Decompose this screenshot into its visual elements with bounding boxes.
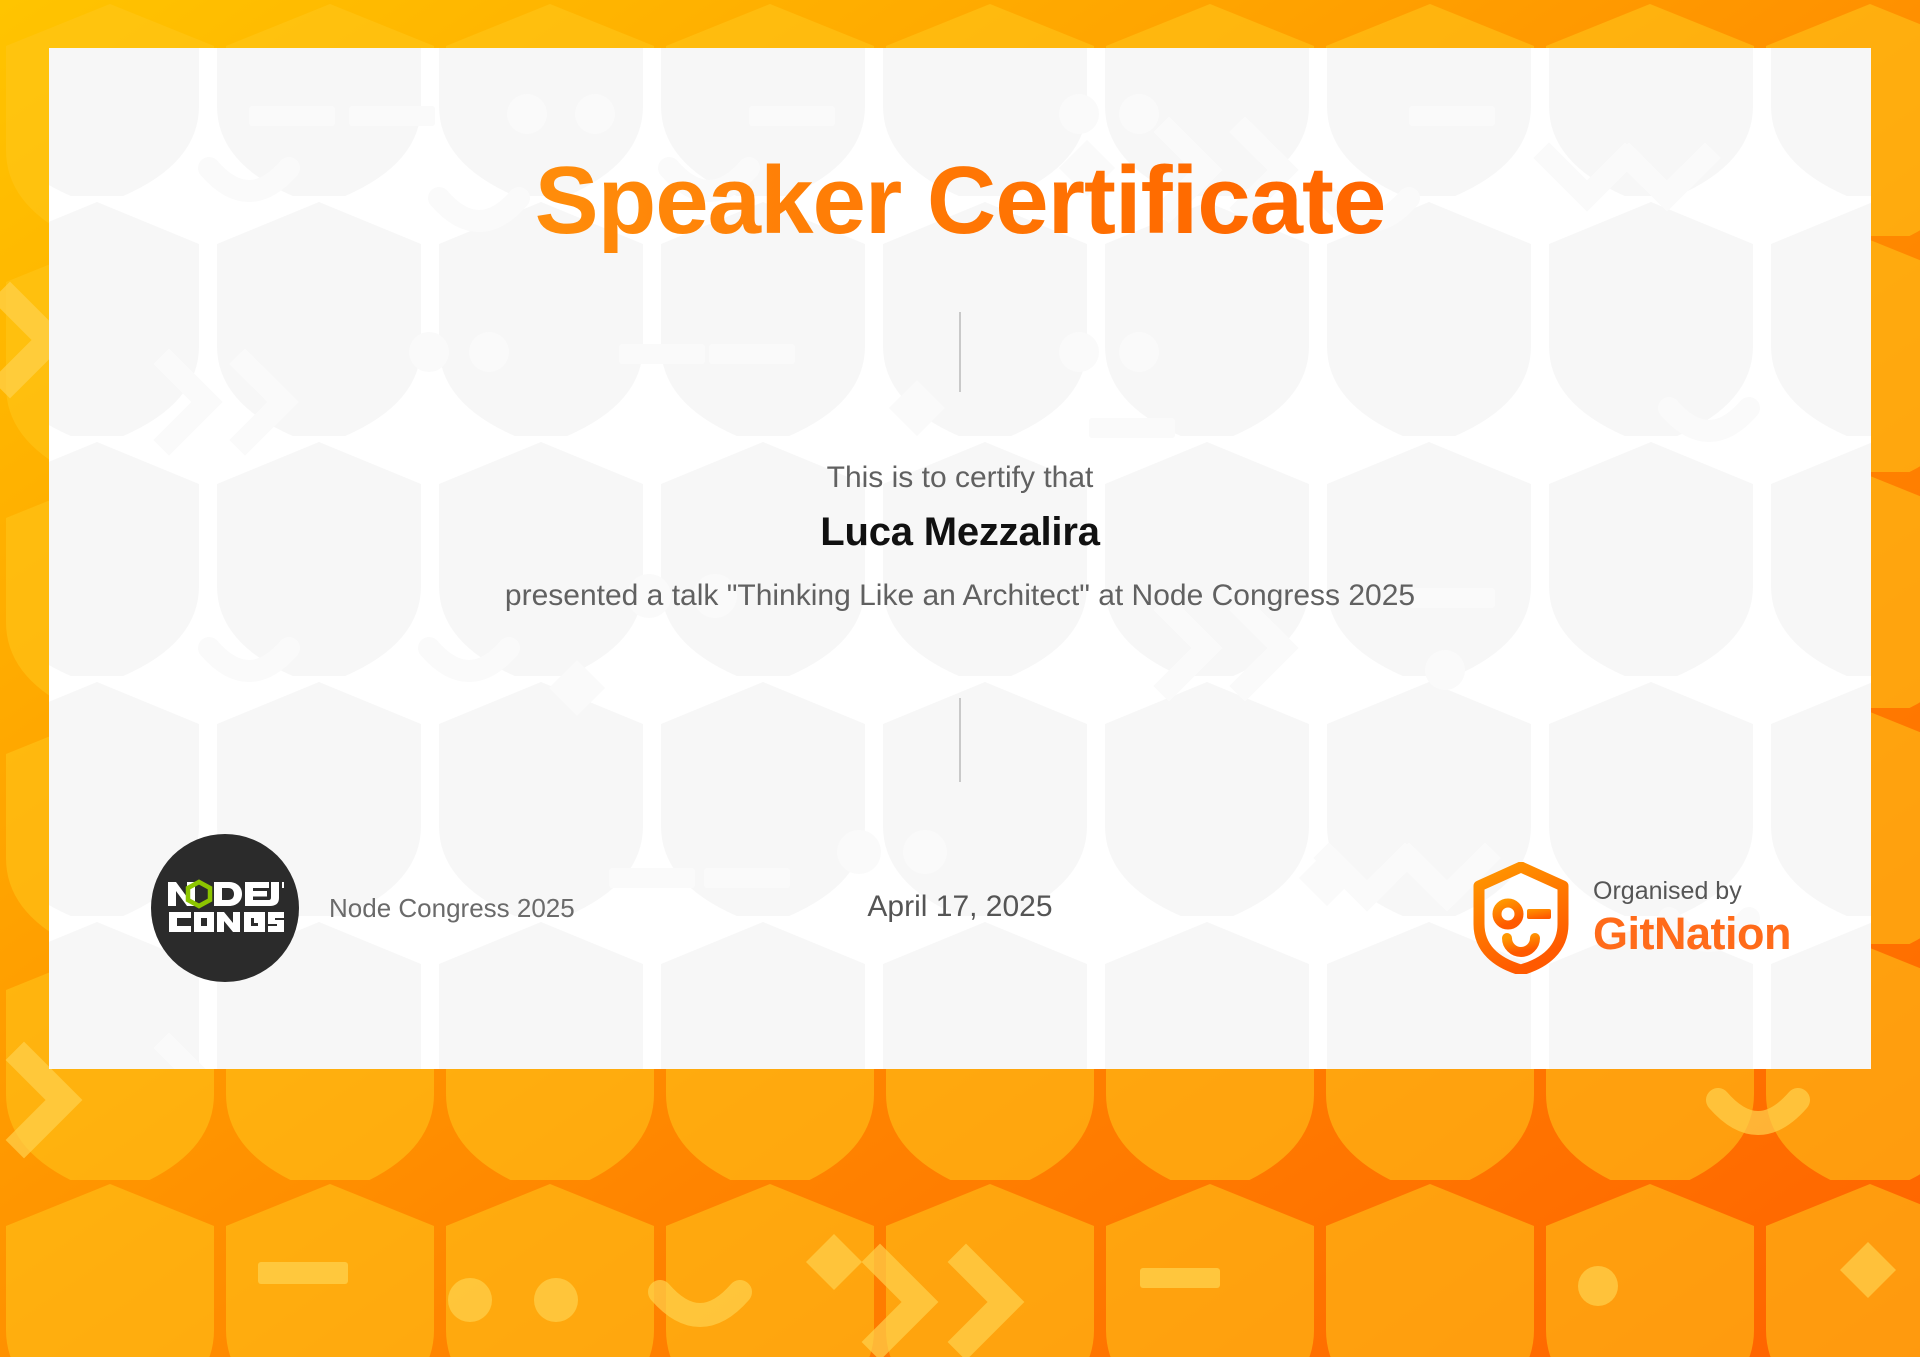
eye-dash-icon <box>1527 909 1551 919</box>
eye-circle-icon <box>1497 903 1519 925</box>
organiser-branding: Organised by GitNation <box>1473 862 1791 974</box>
gitnation-shield-icon <box>1473 862 1569 974</box>
certificate-card: Speaker Certificate This is to certify t… <box>49 48 1871 1069</box>
recipient-name: Luca Mezzalira <box>49 510 1871 555</box>
page-title: Speaker Certificate <box>49 148 1871 254</box>
divider-top <box>959 312 961 392</box>
certify-statement: This is to certify that <box>49 461 1871 495</box>
smile-icon <box>1507 938 1535 952</box>
organiser-name: GitNation <box>1593 909 1791 959</box>
certificate-page: Speaker Certificate This is to certify t… <box>0 0 1920 1357</box>
organised-by-label: Organised by <box>1593 878 1791 906</box>
talk-description: presented a talk "Thinking Like an Archi… <box>49 579 1871 613</box>
certificate-footer: Node Congress 2025 April 17, 2025 <box>49 834 1871 1004</box>
divider-bottom <box>959 698 961 782</box>
